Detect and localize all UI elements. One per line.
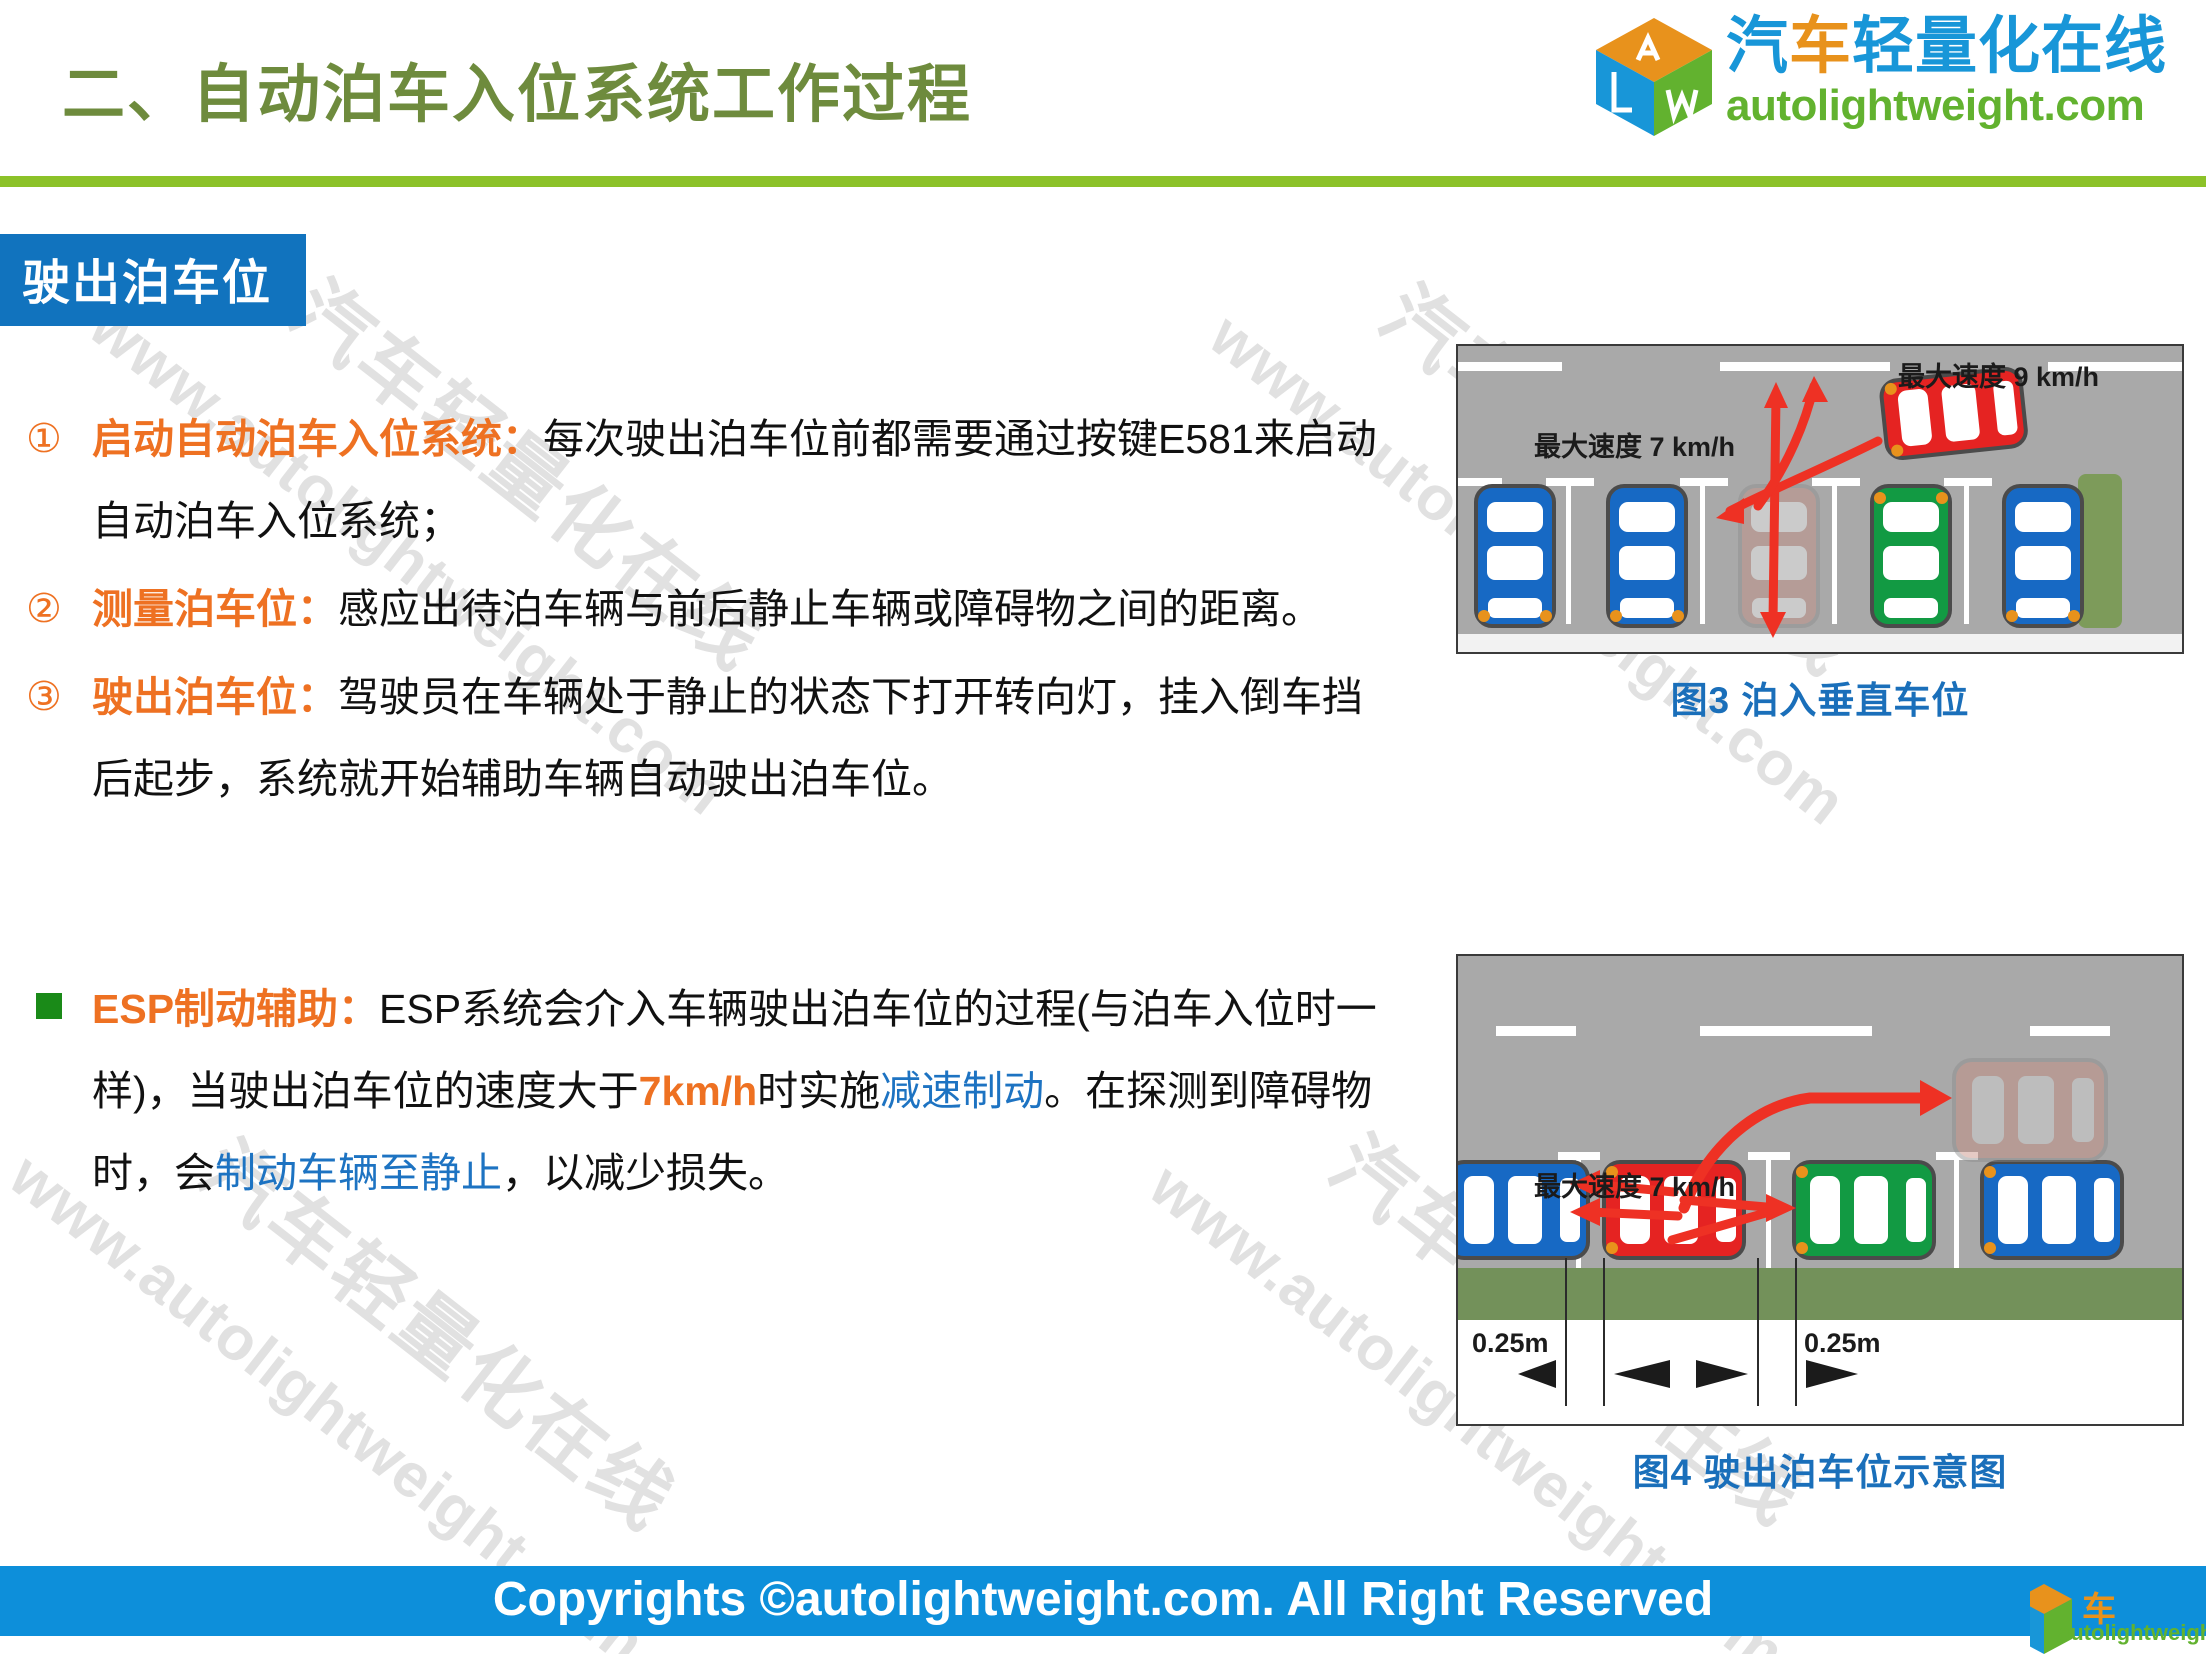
- list-item: ③ 驶出泊车位：驾驶员在车辆处于静止的状态下打开转向灯，挂入倒车挡后起步，系统就…: [18, 656, 1378, 820]
- figure3-label-7kmh: 最大速度 7 km/h: [1534, 431, 1735, 462]
- section-banner: 驶出泊车位: [0, 234, 306, 326]
- list-item-colon: ：: [297, 674, 338, 720]
- list-item-lead: 启动自动泊车入位系统: [92, 416, 502, 462]
- figure-image: 最大速度 7 km/h 0.25m 0.25m: [1456, 954, 2184, 1426]
- list-marker-square: [18, 968, 92, 1050]
- list-marker: ③: [18, 656, 92, 738]
- body-content: ① 启动自动泊车入位系统：每次驶出泊车位前都需要通过按键E581来启动自动泊车入…: [18, 398, 1378, 1220]
- list-item-lead: 驶出泊车位: [92, 674, 297, 720]
- esp-colon: ：: [338, 986, 379, 1032]
- cube-logo-icon: [1592, 16, 1716, 138]
- list-item-colon: ：: [297, 586, 338, 632]
- figure-caption: 图3 泊入垂直车位: [1456, 670, 2184, 724]
- figure-exit-parking: 最大速度 7 km/h 0.25m 0.25m 图4 驶出泊车位示意图: [1456, 954, 2184, 1496]
- square-bullet-icon: [36, 993, 62, 1019]
- list-item: ① 启动自动泊车入位系统：每次驶出泊车位前都需要通过按键E581来启动自动泊车入…: [18, 398, 1378, 562]
- esp-highlight-stop: 制动车辆至静止: [215, 1150, 502, 1196]
- list-item-text: 启动自动泊车入位系统：每次驶出泊车位前都需要通过按键E581来启动自动泊车入位系…: [92, 398, 1378, 562]
- page-title: 二、自动泊车入位系统工作过程: [62, 44, 972, 135]
- list-item-esp: ESP制动辅助：ESP系统会介入车辆驶出泊车位的过程(与泊车入位时一样)，当驶出…: [18, 968, 1378, 1214]
- figure-4-illustration: 最大速度 7 km/h 0.25m 0.25m: [1458, 956, 2182, 1424]
- logo-wordmark: 汽车轻量化在线 autolightweight.com: [1726, 12, 2167, 130]
- brand-logo: 汽车轻量化在线 autolightweight.com: [1592, 12, 2192, 140]
- slide-canvas: www.autolightweight.com 汽车轻量化在线 www.auto…: [0, 0, 2206, 1654]
- list-item-colon: ：: [502, 416, 543, 462]
- list-marker: ①: [18, 398, 92, 480]
- list-item-lead: 测量泊车位: [92, 586, 297, 632]
- esp-highlight-decel: 减速制动: [880, 1068, 1044, 1114]
- footer-bar: Copyrights ©autolightweight.com. All Rig…: [0, 1566, 2206, 1636]
- list-item: ② 测量泊车位：感应出待泊车辆与前后静止车辆或障碍物之间的距离。: [18, 568, 1378, 650]
- figure-perpendicular-parking: 最大速度 9 km/h 最大速度 7 km/h 图3 泊入垂直车位: [1456, 344, 2184, 724]
- esp-item-text: ESP制动辅助：ESP系统会介入车辆驶出泊车位的过程(与泊车入位时一样)，当驶出…: [92, 968, 1378, 1214]
- figure-image: 最大速度 9 km/h 最大速度 7 km/h: [1456, 344, 2184, 654]
- esp-highlight-speed: 7km/h: [639, 1068, 758, 1114]
- list-marker: ②: [18, 568, 92, 650]
- footer-brand-logo: 车 autolightweight.com: [2030, 1580, 2206, 1654]
- list-item-text: 驶出泊车位：驾驶员在车辆处于静止的状态下打开转向灯，挂入倒车挡后起步，系统就开始…: [92, 656, 1378, 820]
- copyright-text: Copyrights ©autolightweight.com. All Rig…: [0, 1572, 2206, 1627]
- figure-3-illustration: 最大速度 9 km/h 最大速度 7 km/h: [1458, 346, 2182, 652]
- esp-lead: ESP制动辅助: [92, 986, 338, 1032]
- figure4-dim-right: 0.25m: [1804, 1328, 1881, 1358]
- figure4-label-7kmh: 最大速度 7 km/h: [1534, 1171, 1735, 1202]
- header-divider: [0, 176, 2206, 187]
- esp-seg-2: 时实施: [757, 1068, 880, 1114]
- figure-caption: 图4 驶出泊车位示意图: [1456, 1442, 2184, 1496]
- figure4-dim-left: 0.25m: [1472, 1328, 1549, 1358]
- figure3-label-9kmh: 最大速度 9 km/h: [1898, 361, 2099, 392]
- logo-domain: autolightweight.com: [1726, 82, 2167, 130]
- esp-seg-4: ，以减少损失。: [502, 1150, 789, 1196]
- footer-logo-domain: autolightweight.com: [2058, 1620, 2206, 1646]
- list-item-body: 感应出待泊车辆与前后静止车辆或障碍物之间的距离。: [338, 586, 1322, 632]
- list-item-text: 测量泊车位：感应出待泊车辆与前后静止车辆或障碍物之间的距离。: [92, 568, 1378, 650]
- logo-chinese-name: 汽车轻量化在线: [1726, 12, 2167, 82]
